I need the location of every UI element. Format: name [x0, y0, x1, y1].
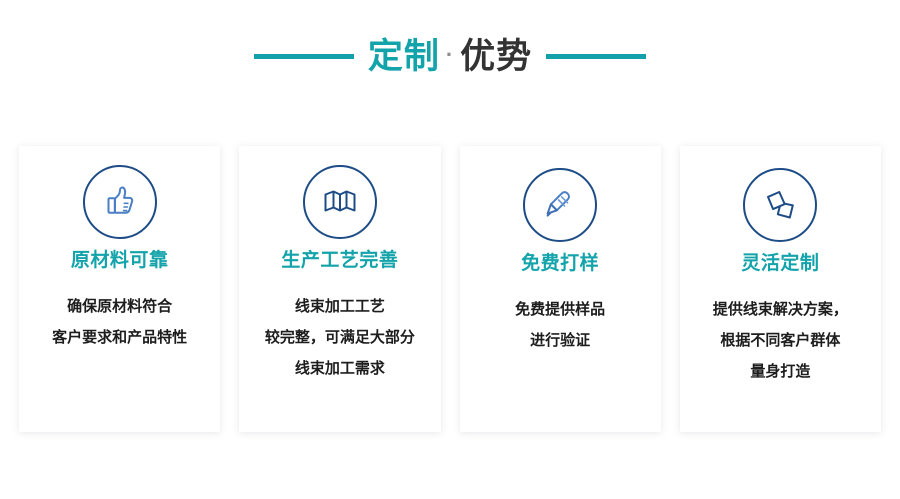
section-heading: 定制 · 优势 — [0, 28, 900, 84]
feature-card-free-sample[interactable]: 免费打样 免费提供样品 进行验证 — [460, 146, 661, 432]
card-description-line: 客户要求和产品特性 — [52, 322, 187, 353]
thumbs-up-icon — [100, 182, 140, 222]
card-description-line: 根据不同客户群体 — [713, 325, 848, 356]
card-title: 原材料可靠 — [71, 251, 169, 270]
card-description-line: 量身打造 — [713, 356, 848, 387]
page-title-primary: 定制 — [368, 39, 440, 74]
card-description-line: 免费提供样品 — [515, 294, 605, 325]
pencil-icon — [540, 185, 580, 225]
icon-circle — [303, 165, 377, 239]
heading-rule-left — [254, 54, 354, 59]
card-description-line: 线束加工工艺 — [265, 291, 415, 322]
feature-card-list: 原材料可靠 确保原材料符合 客户要求和产品特性 生产工艺完善 线束加工工艺 较完… — [19, 146, 881, 432]
card-title: 免费打样 — [521, 254, 599, 273]
page-title: 定制 · 优势 — [368, 39, 532, 74]
card-title: 生产工艺完善 — [281, 251, 398, 270]
heading-rule-right — [546, 54, 646, 59]
card-description-line: 确保原材料符合 — [52, 291, 187, 322]
page-title-separator: · — [446, 44, 454, 66]
card-description: 线束加工工艺 较完整，可满足大部分 线束加工需求 — [253, 291, 427, 384]
card-description-line: 进行验证 — [515, 325, 605, 356]
feature-card-flexible-custom[interactable]: 灵活定制 提供线束解决方案， 根据不同客户群体 量身打造 — [680, 146, 881, 432]
card-description: 确保原材料符合 客户要求和产品特性 — [40, 291, 199, 353]
card-description-line: 较完整，可满足大部分 — [265, 322, 415, 353]
card-description: 免费提供样品 进行验证 — [503, 294, 617, 356]
card-title: 灵活定制 — [741, 254, 819, 273]
page-title-secondary: 优势 — [460, 39, 532, 74]
folded-map-icon — [320, 182, 360, 222]
icon-circle — [523, 168, 597, 242]
card-description: 提供线束解决方案， 根据不同客户群体 量身打造 — [701, 294, 860, 387]
card-description-line: 提供线束解决方案， — [713, 294, 848, 325]
feature-card-process[interactable]: 生产工艺完善 线束加工工艺 较完整，可满足大部分 线束加工需求 — [239, 146, 440, 432]
icon-circle — [743, 168, 817, 242]
stacked-sheets-icon — [760, 185, 800, 225]
icon-circle — [83, 165, 157, 239]
card-description-line: 线束加工需求 — [265, 353, 415, 384]
feature-card-raw-material[interactable]: 原材料可靠 确保原材料符合 客户要求和产品特性 — [19, 146, 220, 432]
